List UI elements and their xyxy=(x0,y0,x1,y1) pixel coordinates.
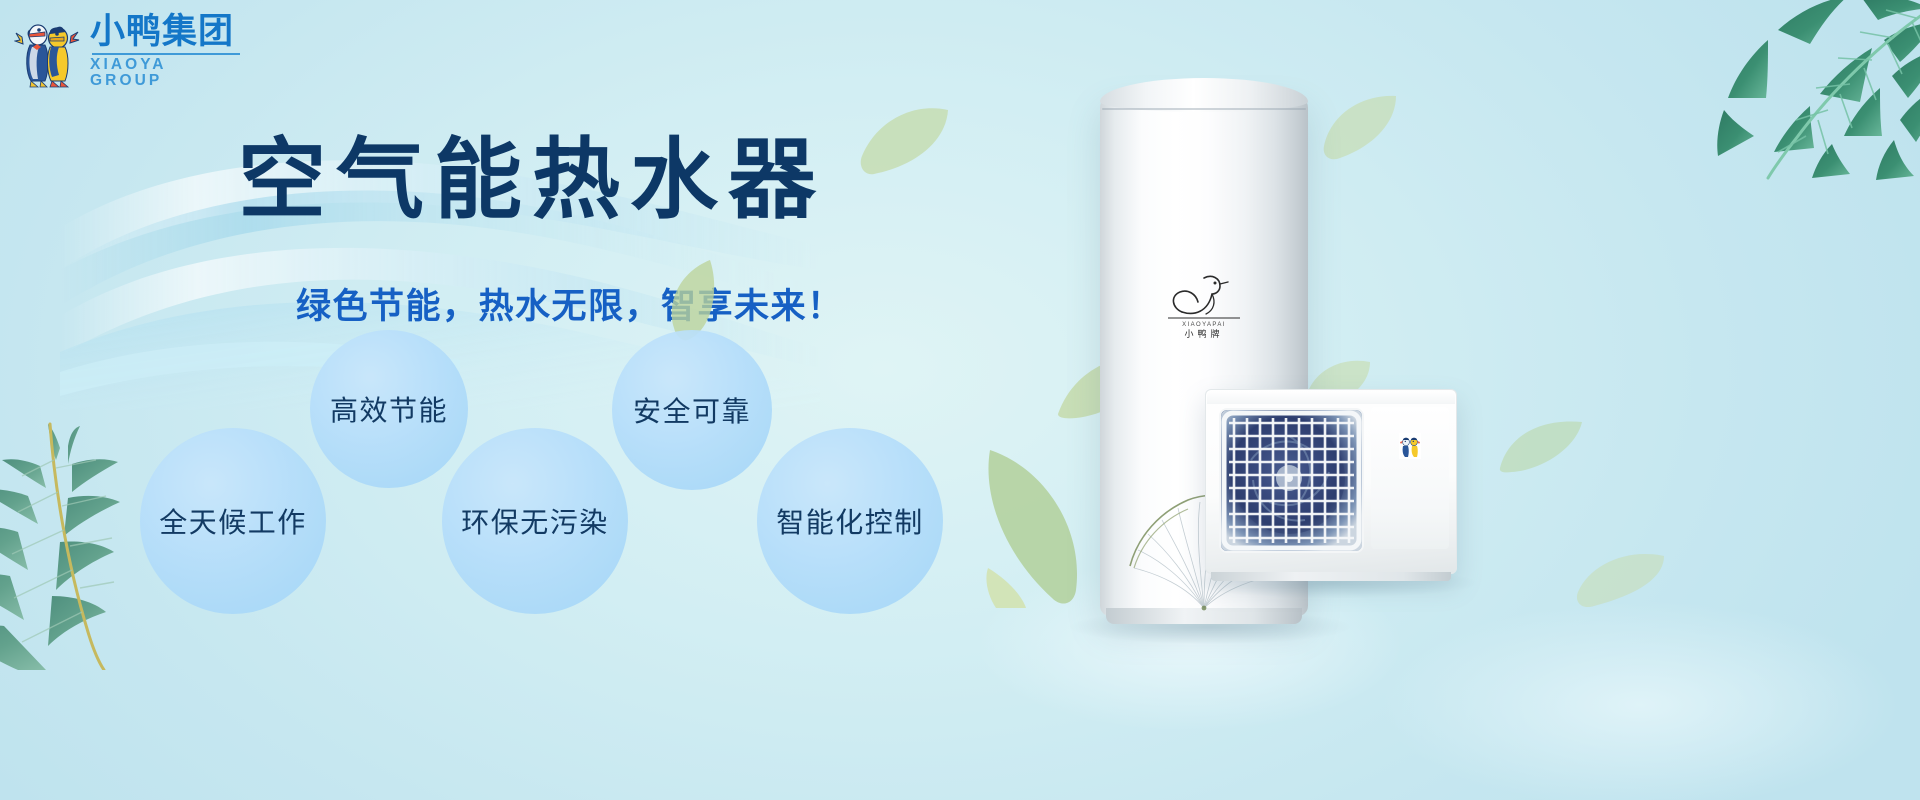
small-leaf-icon-7 xyxy=(1572,548,1668,610)
promo-banner: 小鸭集团 XIAOYA GROUP 空气能热水器 绿色节能，热水无限，智享未来！… xyxy=(0,0,1920,800)
outdoor-unit-side-panel xyxy=(1371,407,1449,549)
feature-bubble-label: 全天候工作 xyxy=(159,501,307,541)
feature-bubble-label: 安全可靠 xyxy=(633,390,751,430)
outdoor-unit-foot xyxy=(1211,572,1451,581)
feature-bubble-label: 高效节能 xyxy=(330,389,448,429)
small-leaf-icon-6 xyxy=(1496,418,1586,474)
fan-grille-icon xyxy=(1219,408,1364,553)
brand-name-cn: 小鸭集团 xyxy=(90,14,244,51)
decor-blob-2 xyxy=(1380,600,1900,800)
feature-bubble[interactable]: 智能化控制 xyxy=(757,428,943,614)
brand-name-en: XIAOYA GROUP xyxy=(90,57,244,88)
svg-text:小鸭牌: 小鸭牌 xyxy=(1184,328,1223,338)
brand-logo-text: 小鸭集团 XIAOYA GROUP xyxy=(90,14,244,89)
feature-bubble[interactable]: 全天候工作 xyxy=(140,428,326,614)
feature-bubble[interactable]: 环保无污染 xyxy=(442,428,628,614)
duck-mascot-icon xyxy=(14,11,84,91)
feature-bubble[interactable]: 安全可靠 xyxy=(612,330,772,490)
feature-bubble-label: 智能化控制 xyxy=(776,501,924,541)
outdoor-unit-product xyxy=(1205,389,1457,574)
page-subtitle: 绿色节能，热水无限，智享未来！ xyxy=(296,278,916,329)
outdoor-unit-top xyxy=(1207,391,1455,404)
tank-top-cap xyxy=(1100,78,1308,112)
logo-divider xyxy=(92,53,240,55)
monstera-leaf-icon xyxy=(1672,0,1920,182)
svg-text:XIAOYAPAI: XIAOYAPAI xyxy=(1182,322,1226,328)
duck-mascot-badge-icon xyxy=(1399,433,1421,459)
brand-logo[interactable]: 小鸭集团 XIAOYA GROUP xyxy=(14,8,244,94)
tank-seam-line xyxy=(1102,108,1306,110)
small-leaf-icon-3 xyxy=(980,440,1094,608)
small-leaf-icon-4 xyxy=(1320,92,1400,164)
feature-bubble-label: 环保无污染 xyxy=(461,501,609,541)
page-title: 空气能热水器 xyxy=(238,133,898,226)
tank-brand-mark: XIAOYAPAI 小鸭牌 xyxy=(1158,268,1250,338)
feature-bubble[interactable]: 高效节能 xyxy=(310,330,468,488)
